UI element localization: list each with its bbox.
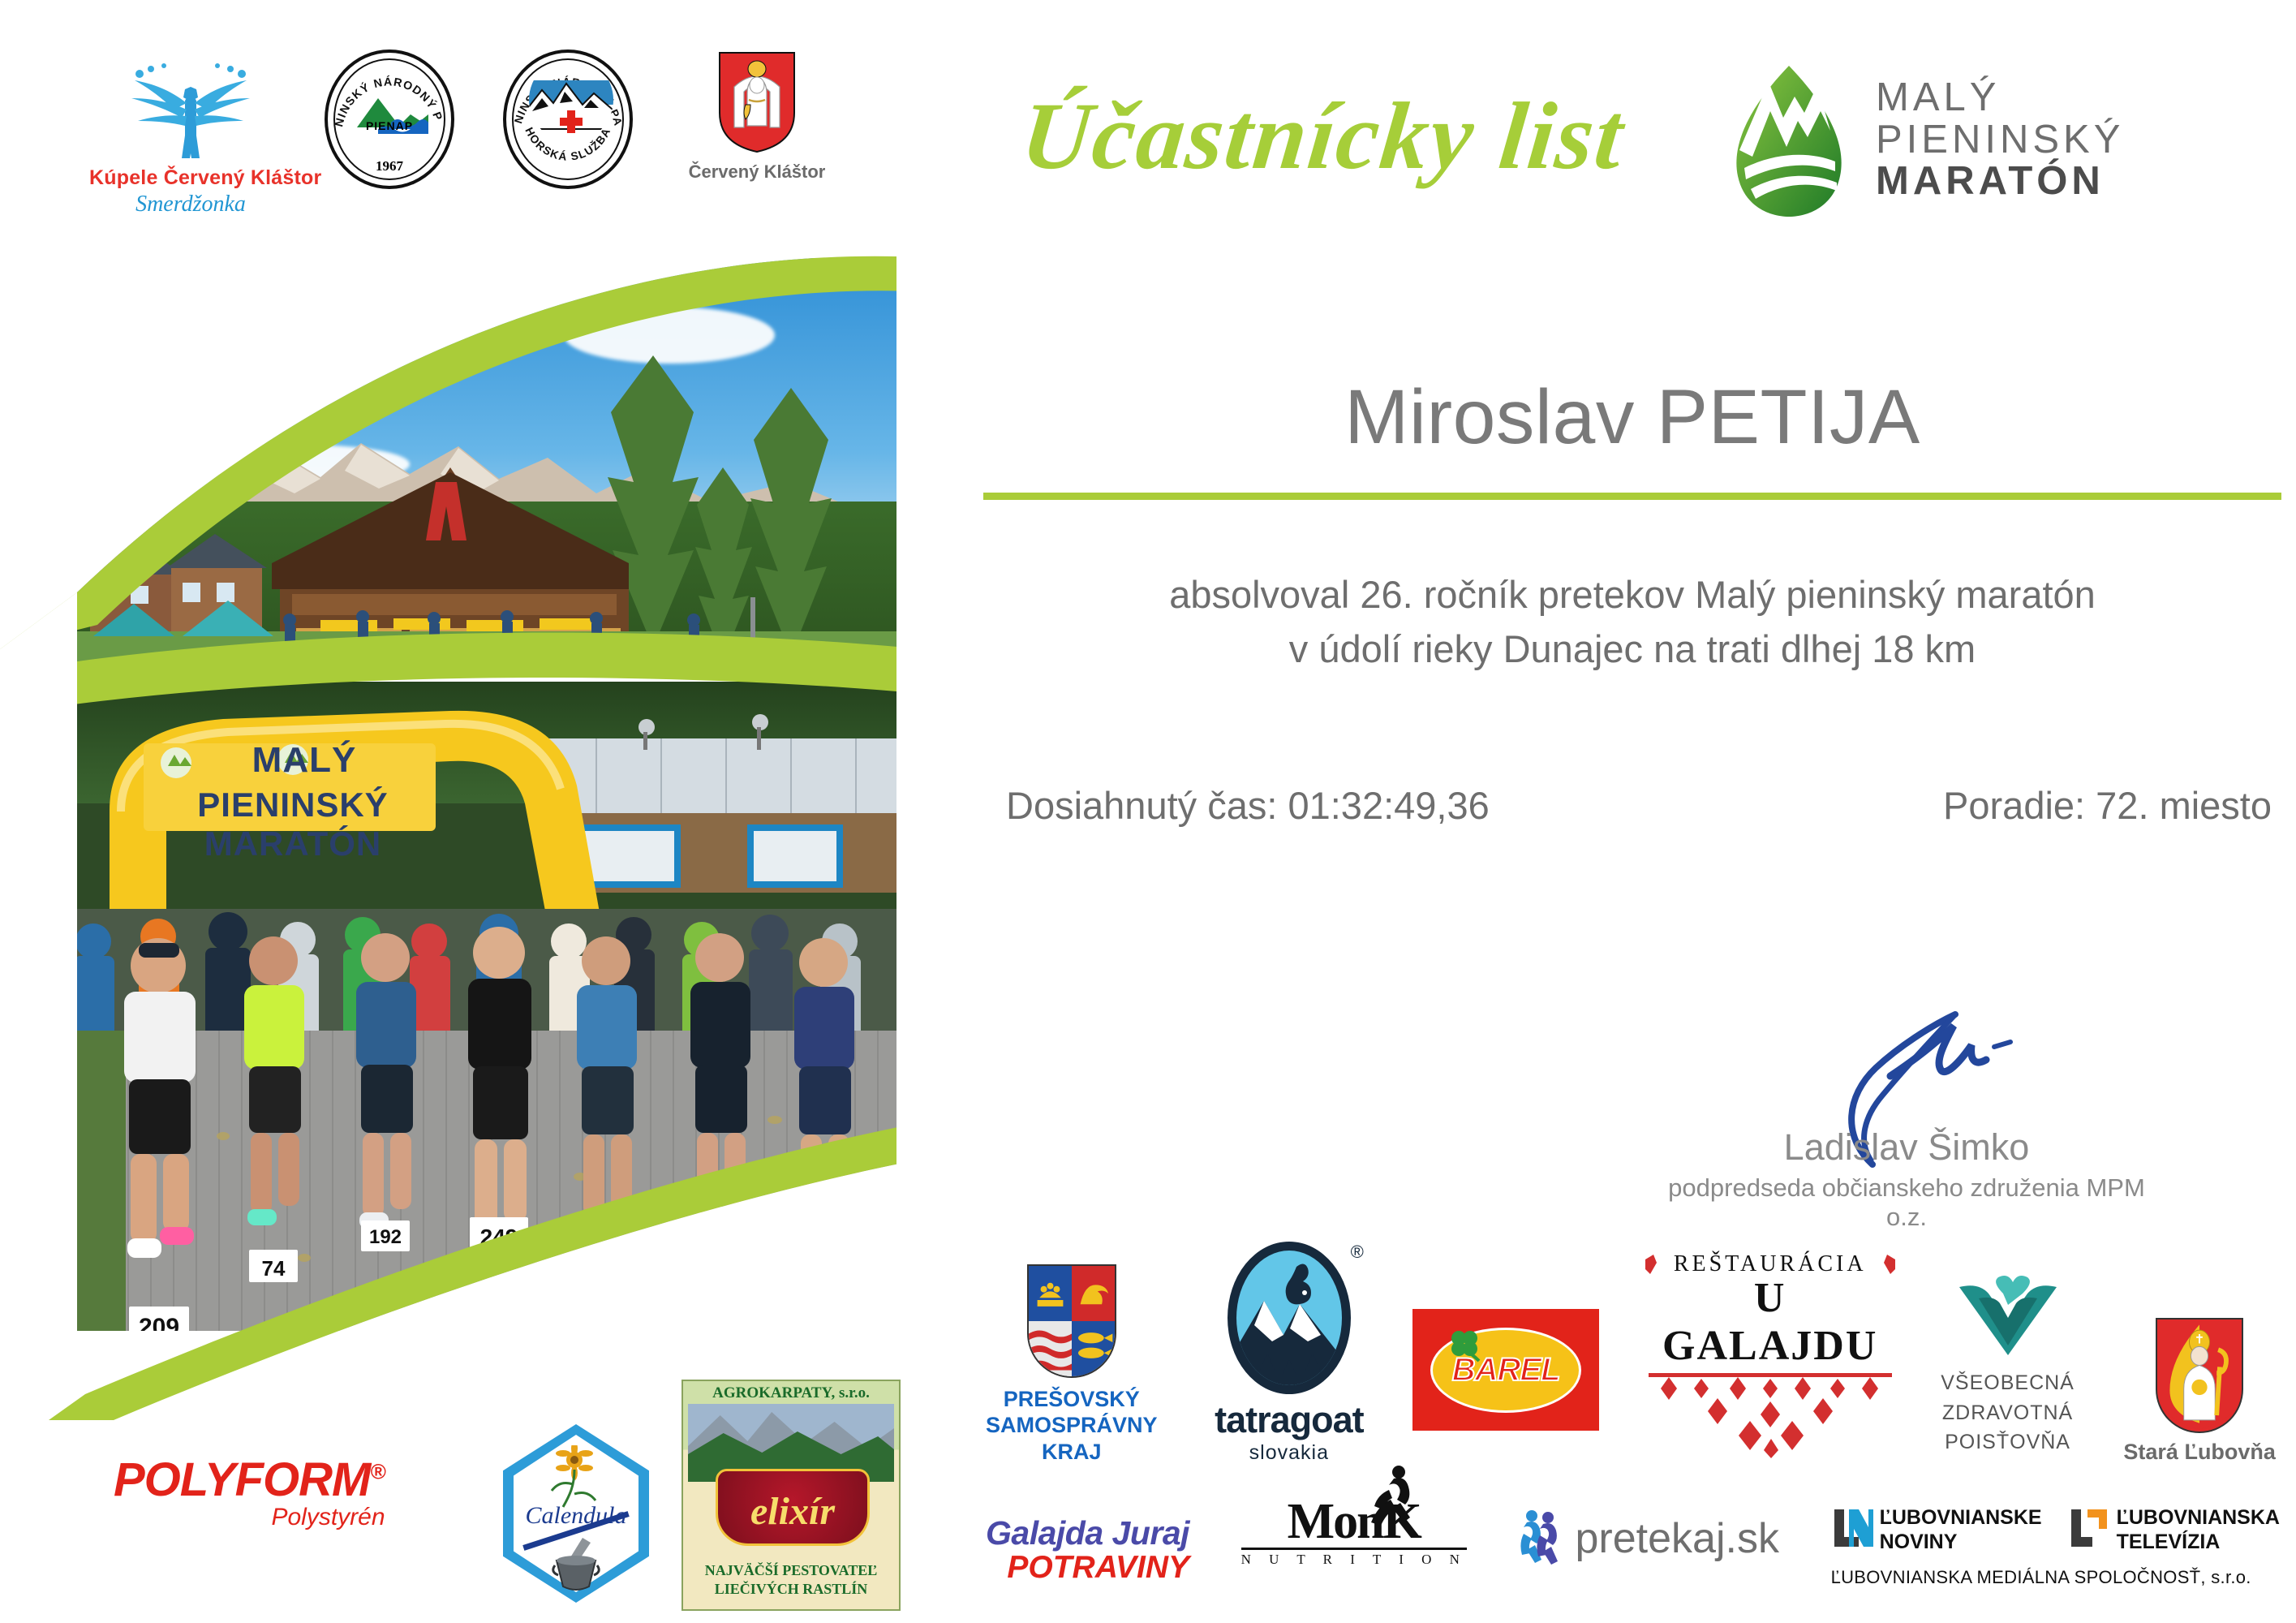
polyform-word: POLYFORM <box>114 1453 370 1506</box>
televizia-line-2: TELEVÍZIA <box>2117 1530 2280 1555</box>
rank-value: 72. miesto <box>2096 784 2272 827</box>
finish-time: Dosiahnutý čas: 01:32:49,36 <box>1006 783 1490 828</box>
noviny-line-2: NOVINY <box>1880 1530 2042 1555</box>
description-line-1: absolvoval 26. ročník pretekov Malý pien… <box>983 568 2281 622</box>
vzp-chevron-icon <box>1954 1276 2062 1357</box>
partner-logo-horska-sluzba: PIENINSKÝ NÁRODNÝ PARK HORSKÁ SLUŽBA <box>503 50 633 189</box>
brand-line-1: MALÝ <box>1876 77 2124 119</box>
sponsor-name-u-galajdu: U GALAJDU <box>1649 1274 1892 1370</box>
sponsor-presovsky-samospravny-kraj: PREŠOVSKÝ SAMOSPRÁVNY KRAJ <box>986 1264 1158 1465</box>
sponsor-sub-monk: N U T R I T I O N <box>1241 1552 1467 1568</box>
sponsor-tatragoat: ® tatragoat slovakia <box>1215 1242 1364 1465</box>
psk-coat-of-arms-icon <box>1027 1264 1116 1378</box>
televizia-line-1: ĽUBOVNIANSKA <box>2117 1506 2280 1530</box>
sponsor-calendula: Calendula <box>503 1424 649 1603</box>
psk-line-1: PREŠOVSKÝ <box>986 1386 1158 1412</box>
folk-pattern-icon <box>1653 1377 1888 1458</box>
elixir-badge: elixír <box>716 1469 870 1546</box>
brand-line-2: PIENINSKÝ <box>1876 119 2124 161</box>
mountain-leaf-icon <box>1720 61 1858 219</box>
rank: Poradie: 72. miesto <box>1943 783 2272 828</box>
two-runners-icon <box>1519 1508 1569 1569</box>
brand-line-3: MARATÓN <box>1876 161 2124 203</box>
description-line-2: v údolí rieky Dunajec na trati dlhej 18 … <box>983 622 2281 677</box>
sponsor-name-elixir: elixír <box>718 1489 867 1534</box>
runner-bib: 249 <box>470 1217 528 1253</box>
partner-logo-kupele-cerveny-klastor: Kúpele Červený Kláštor Smerdžonka <box>89 45 292 217</box>
rank-label: Poradie: <box>1943 784 2085 827</box>
top-partner-logos: Kúpele Červený Kláštor Smerdžonka PIENIN… <box>89 45 941 239</box>
sponsor-row-primary: PREŠOVSKÝ SAMOSPRÁVNY KRAJ ® tatragoat s… <box>986 1242 2276 1465</box>
vzp-line-2: ZDRAVOTNÁ <box>1941 1398 2075 1427</box>
sponsor-top-u-galajdu: REŠTAURÁCIA <box>1649 1251 1892 1277</box>
runner-bib: 147 <box>791 1243 849 1279</box>
seal-label-pienap: PIENAP <box>328 119 451 132</box>
sponsor-pretekaj-sk: pretekaj.sk <box>1519 1508 1779 1569</box>
runner-bib: 31 <box>583 1256 629 1287</box>
runner-bib: 74 <box>249 1250 298 1282</box>
signatory-role: podpredseda občianskeho združenia MPM o.… <box>1647 1173 2166 1232</box>
media-caption-noviny: ĽUBOVNIANSKE NOVINY <box>1880 1506 2042 1554</box>
vzp-line-3: POISŤOVŇA <box>1941 1427 2075 1457</box>
registered-mark-icon: ® <box>1351 1242 1364 1263</box>
photo-panel: MALÝ PIENINSKÝ MARATÓN <box>0 243 957 1420</box>
mortar-and-pestle-icon <box>550 1535 602 1596</box>
park-seal-icon: PIENINSKÝ NÁRODNÝ PARK PIENAP 1967 <box>325 50 454 189</box>
arch-text-line-1: MALÝ <box>215 740 393 781</box>
runner-bib: 234 <box>692 1240 746 1274</box>
signature-block: Ladislav Šimko podpredseda občianskeho z… <box>1647 1006 2166 1232</box>
clover-icon <box>1446 1327 1483 1364</box>
finish-time-value: 01:32:49,36 <box>1288 784 1489 827</box>
sponsor-sub-tatragoat: slovakia <box>1215 1441 1364 1465</box>
sponsor-barel: BAREL <box>1412 1309 1599 1431</box>
monk-coat-of-arms-icon <box>716 50 798 155</box>
divider-rule <box>983 493 2281 500</box>
partner-logo-pienap: PIENINSKÝ NÁRODNÝ PARK PIENAP 1967 <box>325 50 454 189</box>
media-caption-televizia: ĽUBOVNIANSKA TELEVÍZIA <box>2117 1506 2280 1554</box>
media-lubovnianska-televizia: ĽUBOVNIANSKA TELEVÍZIA <box>2068 1506 2280 1554</box>
folk-ornament-icon <box>1642 1251 1675 1284</box>
water-angel-icon <box>89 45 292 166</box>
bishop-coat-of-arms-icon <box>2156 1318 2243 1433</box>
photo-venue <box>77 258 896 664</box>
lt-logo-icon <box>2068 1506 2110 1548</box>
vzp-line-1: VŠEOBECNÁ <box>1941 1368 2075 1397</box>
seal-year: 1967 <box>328 158 451 174</box>
result-stats: Dosiahnutý čas: 01:32:49,36 Poradie: 72.… <box>1006 783 2272 828</box>
agrokarpaty-line-2: LIEČIVÝCH RASTLÍN <box>683 1580 899 1599</box>
partner-logo-cerveny-klastor: Červený Kláštor <box>680 50 834 183</box>
psk-line-3: KRAJ <box>986 1439 1158 1465</box>
galajda-line-1: Galajda Juraj <box>986 1514 1189 1552</box>
sponsor-galajda-juraj: Galajda Juraj POTRAVINY <box>986 1514 1189 1586</box>
page-title: Účastnícky list <box>1017 81 1630 192</box>
psk-caption: PREŠOVSKÝ SAMOSPRÁVNY KRAJ <box>986 1386 1158 1465</box>
sponsor-u-galajdu: REŠTAURÁCIA U GALAJDU <box>1649 1251 1892 1458</box>
photo-race-start: MALÝ PIENINSKÝ MARATÓN <box>61 682 896 1331</box>
runner-bib: 209 <box>129 1307 189 1331</box>
recipient-name: Miroslav PETIJA <box>983 373 2281 462</box>
signatory-name: Ladislav Šimko <box>1647 1126 2166 1169</box>
sponsor-name-monk: MonK <box>1241 1493 1467 1551</box>
sponsor-bottom-agrokarpaty: NAJVÄČŠÍ PESTOVATEĽ LIEČIVÝCH RASTLÍN <box>683 1561 899 1598</box>
agrokarpaty-line-1: NAJVÄČŠÍ PESTOVATEĽ <box>683 1561 899 1580</box>
arch-text-line-2: PIENINSKÝ MARATÓN <box>123 786 463 863</box>
partner-sublabel-smerdzonka: Smerdžonka <box>89 192 292 217</box>
mountain-rescue-seal-icon: PIENINSKÝ NÁRODNÝ PARK HORSKÁ SLUŽBA <box>503 50 633 189</box>
sponsor-name-stara-lubovna: Stará Ľubovňa <box>2123 1440 2276 1465</box>
media-lubovnianske-noviny: ĽUBOVNIANSKE NOVINY <box>1831 1506 2042 1554</box>
sponsor-stara-lubovna: Stará Ľubovňa <box>2123 1318 2276 1465</box>
sponsor-sub-polyform: Polystyrén <box>114 1504 385 1531</box>
sponsor-name-pretekaj: pretekaj.sk <box>1576 1514 1779 1563</box>
media-footer: ĽUBOVNIANSKA MEDIÁLNA SPOLOČNOSŤ, s.r.o. <box>1831 1567 2280 1588</box>
sponsor-polyform: POLYFORM® Polystyrén <box>114 1453 385 1531</box>
flower-icon <box>539 1445 613 1510</box>
sponsor-vszp: VŠEOBECNÁ ZDRAVOTNÁ POISŤOVŇA <box>1941 1276 2075 1457</box>
running-man-icon <box>1365 1464 1423 1526</box>
sponsor-agrokarpaty-elixir: AGROKARPATY, s.r.o. PLAVNICA elixír NAJV… <box>681 1380 901 1611</box>
noviny-line-1: ĽUBOVNIANSKE <box>1880 1506 2042 1530</box>
goat-mountain-icon <box>1228 1242 1351 1394</box>
folk-ornament-icon <box>1866 1251 1898 1284</box>
galajda-line-2: POTRAVINY <box>986 1550 1189 1586</box>
psk-line-2: SAMOSPRÁVNY <box>986 1412 1158 1438</box>
registered-mark-icon: ® <box>370 1460 385 1484</box>
ln-logo-icon <box>1831 1506 1873 1548</box>
sponsor-row-secondary: Galajda Juraj POTRAVINY MonK N U T R I T… <box>986 1493 2280 1588</box>
sponsor-lubovnianska-medialna: ĽUBOVNIANSKE NOVINY ĽUBOVNIANSKA TELEVÍZ… <box>1831 1506 2280 1588</box>
finish-time-label: Dosiahnutý čas: <box>1006 784 1277 827</box>
vzp-caption: VŠEOBECNÁ ZDRAVOTNÁ POISŤOVŇA <box>1941 1368 2075 1457</box>
runner-bib: 192 <box>361 1220 410 1251</box>
sponsor-name-calendula: Calendula <box>503 1502 649 1530</box>
sponsor-name-tatragoat: tatragoat <box>1215 1399 1364 1441</box>
partner-label-kupele: Kúpele Červený Kláštor <box>89 166 292 190</box>
sponsor-name-polyform: POLYFORM® <box>114 1453 385 1507</box>
sponsor-monk-nutrition: MonK N U T R I T I O N <box>1241 1493 1467 1568</box>
partner-label-cerveny-klastor: Červený Kláštor <box>680 161 834 183</box>
brand-lockup: MALÝ PIENINSKÝ MARATÓN <box>1720 61 2124 219</box>
certificate-description: absolvoval 26. ročník pretekov Malý pien… <box>983 568 2281 676</box>
